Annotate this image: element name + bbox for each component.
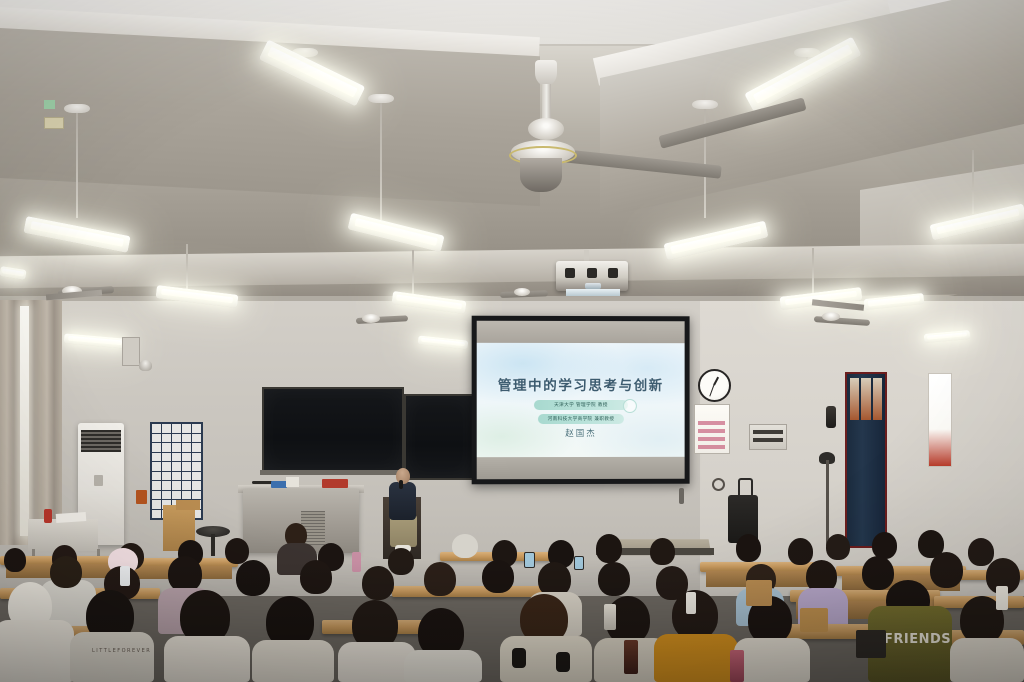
door-glass-panel [850,378,882,420]
hoodie-text: FRIENDS [884,632,951,647]
audience-head [236,560,270,596]
audience-head [50,556,82,588]
audience-head [4,548,26,572]
water-bottle [352,552,361,572]
ceiling-fan-mount [535,60,557,86]
exit-sign [44,100,55,109]
chalk-tray [260,470,406,475]
ceiling [0,0,1024,330]
wall-clock [698,369,731,402]
lamp-rod [812,248,814,294]
audience-head [424,562,456,596]
lamp-rod-cap [692,100,718,109]
window-light-gap [20,306,29,536]
audience-head [596,534,622,563]
audience-head [168,556,202,592]
classroom-photo-scene: 管理中的学习思考与创新 天津大学 管理学院 教授 河南科技大学商学院 兼职教授 … [0,0,1024,682]
audience-torso [252,640,334,682]
water-bottle [120,566,130,586]
backpack-strap [512,648,526,668]
desk-row-mid [392,586,542,597]
blackboard-left [264,389,402,471]
window-curtain [0,300,62,545]
podium-item-red [322,479,348,488]
audience-torso [950,638,1024,682]
lamp-rod [412,250,414,300]
slide-affiliation-primary: 天津大学 管理学院 教授 [534,400,628,410]
screen-surface: 管理中的学习思考与创新 天津大学 管理学院 教授 河南科技大学商学院 兼职教授 … [477,343,685,457]
wall-speaker [826,406,836,428]
water-bottle [624,640,638,674]
air-conditioner-grill [81,430,121,452]
audience-head [872,532,897,559]
audience-head-capped [452,534,478,558]
raised-phone [574,556,584,570]
blackboard-right [406,396,472,478]
audience-head [362,566,394,600]
projection-screen: 管理中的学习思考与创新 天津大学 管理学院 教授 河南科技大学商学院 兼职教授 … [472,316,690,485]
ceiling-fan-3-hub [362,314,380,323]
security-camera-icon [139,360,152,371]
audience-torso [0,620,74,682]
audience-torso [164,636,250,682]
audience-torso [734,638,810,682]
presenter-handheld-microphone [399,480,403,489]
audience-head [225,538,249,564]
slide-affiliation-secondary: 河南科技大学商学院 兼职教授 [538,414,624,424]
ceiling-fan-4-hub [822,312,840,321]
ceiling-fan-5-hub [514,288,530,296]
water-bottle [996,586,1008,610]
lamp-rod [704,104,706,218]
audience-head [826,534,850,560]
door-notice [44,117,64,129]
slide-presenter-name: 赵国杰 [477,427,685,439]
audience-chair [800,608,828,632]
audience-torso [404,650,482,682]
lamp-rod [76,108,78,218]
wall-electrical-box [122,337,140,366]
podium-item-white [286,477,299,487]
lamp-rod [972,150,974,214]
wall-banner [928,373,952,467]
clock-minute-hand [709,385,714,397]
water-bottle [604,604,616,630]
audience-head [862,556,894,590]
wooden-chair-back [176,500,200,510]
ceiling-projector [556,261,628,291]
podium-item-blue [271,481,287,488]
audience-chair [856,630,886,658]
audience-head [788,538,813,565]
audience-head [930,552,963,588]
audience-head [482,560,514,593]
safety-notice-poster [694,404,730,454]
screen-bottom-bar [477,457,685,479]
audience-head [300,560,332,594]
lamp-rod-cap [368,94,394,103]
wall-control-box [749,424,787,450]
classroom-door[interactable] [845,372,887,548]
audience-head [968,538,994,566]
air-conditioner-panel [94,475,103,486]
wall-hook-icon [712,478,725,491]
audience-torso [654,634,738,682]
raised-phone [524,552,535,568]
audience-head [650,538,675,565]
jacket-text: LITTLEFOREVER [92,648,151,654]
backpack-strap [556,652,570,672]
ceiling-fan-motor-top [528,118,564,140]
screen-top-bar [477,321,685,343]
audience-head [736,534,761,562]
red-bottle [44,509,52,523]
water-bottle [730,650,744,682]
audience-head [598,562,630,596]
slide-title: 管理中的学习思考与创新 [477,374,685,394]
round-stool-leg [211,534,215,556]
hanging-microphone [679,488,684,504]
clock-hour-hand [713,377,719,386]
lamp-rod [380,98,382,220]
audience-torso [70,632,154,682]
audience-chair [746,580,772,606]
audience-head [388,548,414,575]
mop-handle [826,460,829,546]
projector-light-cone [566,289,620,296]
lamp-rod-cap [64,104,90,113]
ceiling-fan-downrod-cover [520,158,562,192]
fire-alarm-box [136,490,147,504]
water-bottle [686,592,696,614]
